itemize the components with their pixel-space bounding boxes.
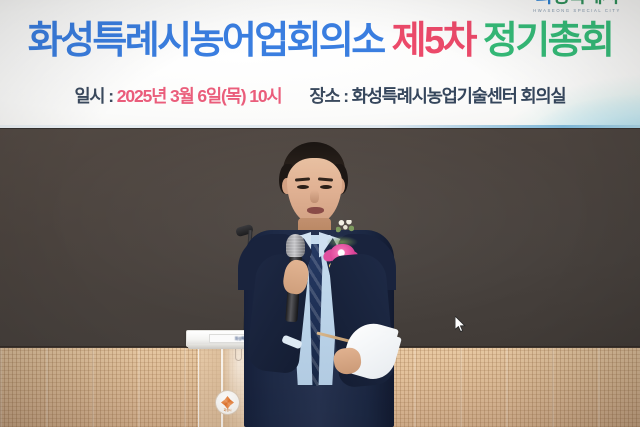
date-label: 일시 : <box>74 86 113 106</box>
city-logo-name-rest: 성특례시 <box>552 0 618 7</box>
screenshot-root: 화성특례시 HWASEONG SPECIAL CITY 화성특례시농어업회의소 … <box>0 0 640 427</box>
city-logo: 화성특례시 HWASEONG SPECIAL CITY <box>518 0 636 13</box>
microphone-head <box>286 234 305 257</box>
headline-part-organization: 화성특례시농어업회의소 <box>28 20 384 62</box>
city-logo-subtitle: HWASEONG SPECIAL CITY <box>518 9 636 13</box>
banner-date-group: 일시 : 2025년 3월 6일(목) 10시 <box>74 88 281 106</box>
headline-part-session: 제5차 <box>392 20 475 62</box>
eye-right <box>320 185 332 189</box>
cursor-arrow-icon <box>455 316 467 334</box>
event-banner: 화성특례시 HWASEONG SPECIAL CITY 화성특례시농어업회의소 … <box>0 0 640 128</box>
speaker-person <box>228 142 420 427</box>
headline-part-meeting: 정기총회 <box>483 20 612 62</box>
nose <box>310 190 319 203</box>
mouse-cursor <box>455 316 467 334</box>
city-logo-name: 화성특례시 <box>518 0 636 6</box>
place-label: 장소 : <box>310 86 349 106</box>
mouth <box>307 207 324 214</box>
city-logo-name-prefix: 화 <box>536 0 552 7</box>
eye-left <box>297 185 309 189</box>
banner-place-group: 장소 : 화성특례시농업기술센터 회의실 <box>310 88 566 106</box>
place-value: 화성특례시농업기술센터 회의실 <box>352 86 566 106</box>
banner-headline: 화성특례시농어업회의소 제5차 정기총회 <box>0 22 640 60</box>
banner-bottom-edge <box>0 125 640 128</box>
date-value: 2025년 3월 6일(목) 10시 <box>117 86 282 106</box>
banner-subline: 일시 : 2025년 3월 6일(목) 10시 장소 : 화성특례시농업기술센터… <box>0 88 640 106</box>
